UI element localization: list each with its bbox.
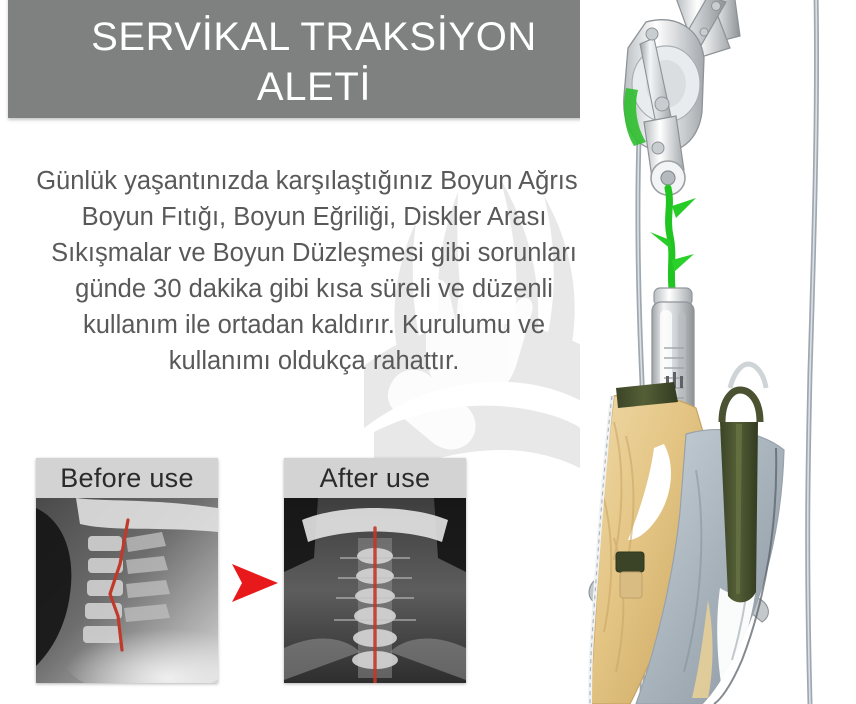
green-cord — [668, 188, 672, 288]
title-line-2: ALETİ — [257, 62, 371, 112]
red-arrow-right-icon — [228, 558, 280, 608]
description-line-6: kullanımı oldukça rahattır. — [14, 343, 614, 379]
description-paragraph: Günlük yaşantınızda karşılaştığınız Boyu… — [14, 163, 614, 379]
poster-root: SERVİKAL TRAKSİYON ALETİ Günlük yaşantın… — [0, 0, 856, 704]
after-use-panel: After use — [284, 458, 466, 683]
title-banner: SERVİKAL TRAKSİYON ALETİ — [8, 0, 620, 118]
cervical-traction-device-photo — [580, 0, 856, 704]
xray-ap-cervical-icon — [284, 498, 466, 683]
before-use-panel: Before use — [36, 458, 218, 683]
xray-lateral-cervical-icon — [36, 498, 218, 683]
description-line-1: Günlük yaşantınızda karşılaştığınız Boyu… — [14, 163, 614, 199]
after-use-caption: After use — [284, 458, 466, 498]
description-line-5: kullanım ile ortadan kaldırır. Kurulumu … — [14, 307, 614, 343]
before-use-caption: Before use — [36, 458, 218, 498]
description-line-3: Sıkışmalar ve Boyun Düzleşmesi gibi soru… — [14, 235, 614, 271]
buckle-clip — [616, 552, 644, 598]
description-line-4: günde 30 dakika gibi kısa süreli ve düze… — [14, 271, 614, 307]
title-line-1: SERVİKAL TRAKSİYON — [91, 12, 537, 62]
description-line-2: Boyun Fıtığı, Boyun Eğriliği, Diskler Ar… — [14, 199, 614, 235]
